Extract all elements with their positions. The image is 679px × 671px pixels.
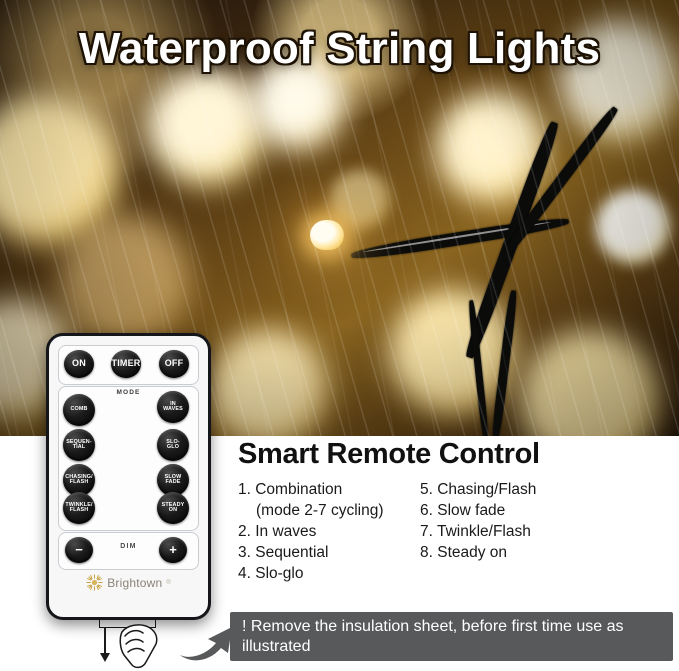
- timer-button[interactable]: TIMER: [111, 350, 141, 378]
- sequential-button[interactable]: SEQUEN- TIAL: [63, 429, 95, 461]
- hand-illustration: [116, 622, 170, 671]
- curved-arrow-icon: [178, 615, 236, 668]
- list-item: 3. Sequential: [238, 542, 420, 563]
- info-panel: Smart Remote Control 1. Combination (mod…: [238, 438, 668, 584]
- list-item: 7. Twinkle/Flash: [420, 521, 536, 542]
- on-button[interactable]: ON: [64, 350, 94, 378]
- twinkle-flash-button[interactable]: TWINKLE/ FLASH: [63, 492, 95, 524]
- list-item: 8. Steady on: [420, 542, 536, 563]
- brand-logo: Brightown ®: [49, 574, 208, 591]
- sunburst-icon: [86, 574, 103, 591]
- slo-glo-button[interactable]: SLO- GLO: [157, 429, 189, 461]
- dim-plus-button[interactable]: +: [159, 537, 187, 563]
- registered-mark: ®: [166, 580, 170, 586]
- off-button[interactable]: OFF: [159, 350, 189, 378]
- comb-button[interactable]: COMB: [63, 394, 95, 426]
- dim-minus-button[interactable]: −: [65, 537, 93, 563]
- list-item: 1. Combination: [238, 479, 420, 500]
- info-heading: Smart Remote Control: [238, 438, 668, 471]
- list-item: 5. Chasing/Flash: [420, 479, 536, 500]
- in-waves-button[interactable]: IN WAVES: [157, 391, 189, 423]
- down-arrow-icon: [104, 627, 106, 655]
- brand-name: Brightown: [107, 576, 162, 590]
- mode-list-left-column: 1. Combination (mode 2-7 cycling) 2. In …: [238, 479, 420, 584]
- product-image: Waterproof String Lights ON TIMER OFF MO…: [0, 0, 679, 671]
- list-item: (mode 2-7 cycling): [238, 500, 420, 521]
- mode-list: 1. Combination (mode 2-7 cycling) 2. In …: [238, 479, 668, 584]
- list-item: 6. Slow fade: [420, 500, 536, 521]
- hero-title: Waterproof String Lights: [0, 24, 679, 74]
- remote-control: ON TIMER OFF MODE COMB SEQUEN- TIAL CHAS…: [46, 333, 211, 620]
- steady-on-button[interactable]: STEADY ON: [157, 492, 189, 524]
- warning-banner: ! Remove the insulation sheet, before fi…: [230, 612, 673, 661]
- list-item: 2. In waves: [238, 521, 420, 542]
- mode-list-right-column: 5. Chasing/Flash 6. Slow fade 7. Twinkle…: [420, 479, 536, 584]
- list-item: 4. Slo-glo: [238, 563, 420, 584]
